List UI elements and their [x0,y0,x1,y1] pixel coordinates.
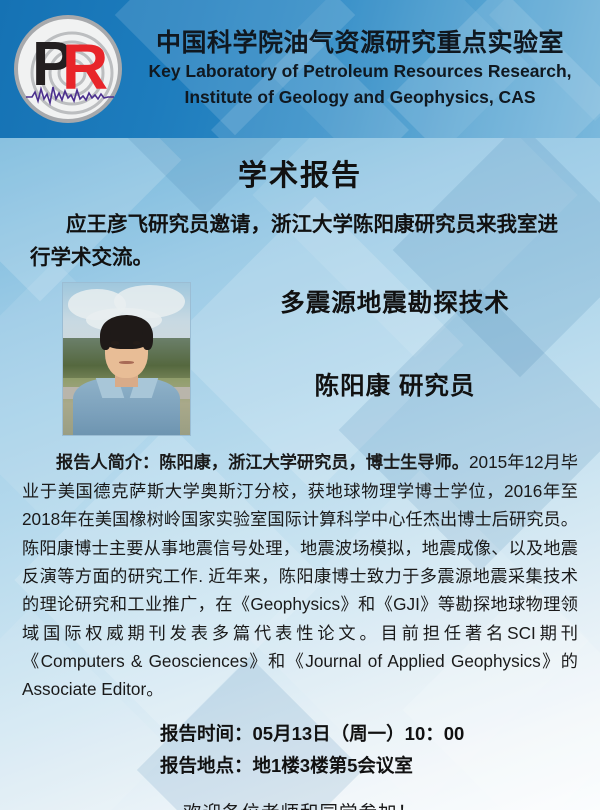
poster-root: P R 中国科学院油气资源研究重点实验室 Key Laboratory of P… [0,0,600,810]
event-place: 报告地点：地1楼3楼第5会议室 [160,750,600,782]
lab-name-cn: 中国科学院油气资源研究重点实验室 [126,28,594,59]
bio-bold-prefix: 报告人简介：陈阳康，浙江大学研究员，博士生导师。 [56,452,469,472]
event-time: 报告时间：05月13日（周一）10：00 [160,718,600,750]
speaker-name: 陈阳康 研究员 [200,367,590,402]
bio-body: 2015年12月毕业于美国德克萨斯大学奥斯汀分校，获地球物理学博士学位，2016… [22,452,578,699]
lab-logo: P R [12,13,124,125]
lab-name-en-line1: Key Laboratory of Petroleum Resources Re… [126,59,594,84]
poster-body: 学术报告 应王彦飞研究员邀请，浙江大学陈阳康研究员来我室进行学术交流。 [0,138,600,810]
welcome-note: 欢迎各位老师和同学参加！ [0,799,600,810]
invitation-text: 应王彦飞研究员邀请，浙江大学陈阳康研究员来我室进行学术交流。 [30,208,570,274]
event-details: 报告时间：05月13日（周一）10：00 报告地点：地1楼3楼第5会议室 [0,718,600,783]
talk-title: 多震源地震勘探技术 [200,284,590,319]
speaker-row: 多震源地震勘探技术 陈阳康 研究员 [0,282,600,432]
lab-name-en-line2: Institute of Geology and Geophysics, CAS [126,85,594,110]
header-band: P R 中国科学院油气资源研究重点实验室 Key Laboratory of P… [0,0,600,138]
logo-letter-r: R [62,31,108,103]
report-type-title: 学术报告 [0,152,600,194]
speaker-bio: 报告人简介：陈阳康，浙江大学研究员，博士生导师。2015年12月毕业于美国德克萨… [22,448,578,703]
header-titles: 中国科学院油气资源研究重点实验室 Key Laboratory of Petro… [124,28,600,110]
speaker-photo [62,282,191,436]
talk-info: 多震源地震勘探技术 陈阳康 研究员 [200,284,590,402]
